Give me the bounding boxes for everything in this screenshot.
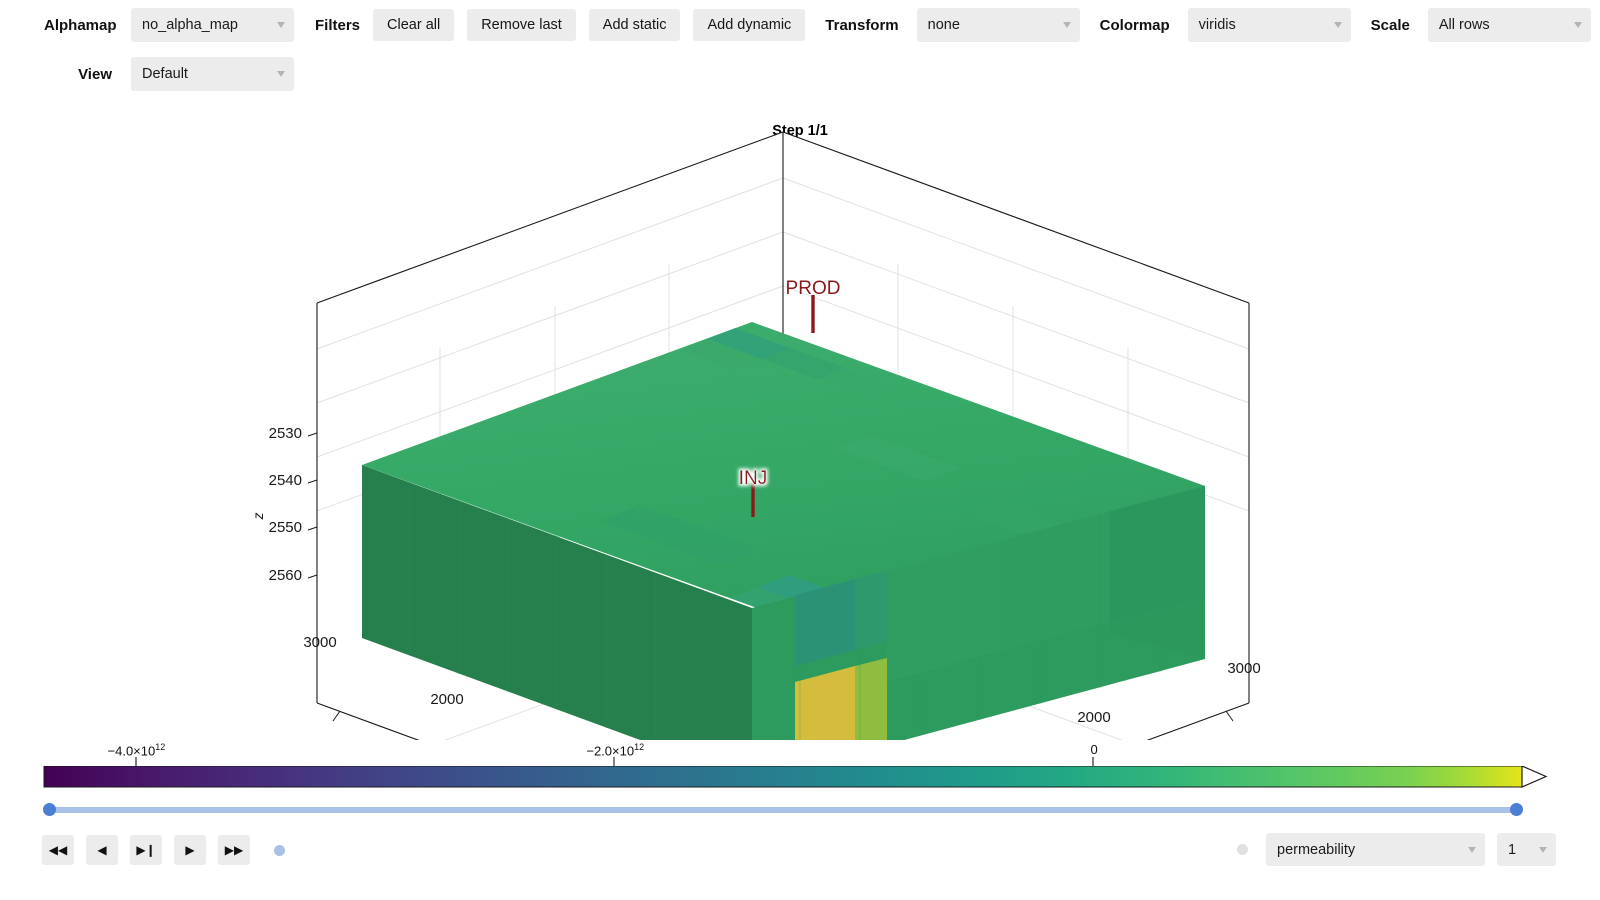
transform-select-value: none xyxy=(928,17,960,33)
add-static-button[interactable]: Add static xyxy=(589,9,681,41)
skip-to-end-button[interactable]: ▶▶ xyxy=(218,835,250,865)
view-label: View xyxy=(44,66,112,83)
chevron-down-icon xyxy=(1334,22,1342,28)
colorbar-gradient[interactable] xyxy=(0,766,1600,796)
y-tick-label: 3000 xyxy=(303,634,336,651)
transform-select[interactable]: none xyxy=(917,8,1080,42)
z-tick-label: 2550 xyxy=(269,519,302,536)
property-select[interactable]: permeability xyxy=(1266,833,1485,866)
colorbar-tick-marks xyxy=(0,755,1600,767)
playback-controls: ◀◀◀▶❙▶▶▶ xyxy=(42,835,285,865)
alphamap-label: Alphamap xyxy=(44,17,112,34)
toolbar-row-primary: Alphamap no_alpha_map Filters Clear all … xyxy=(0,0,1600,50)
range-slider-track[interactable] xyxy=(44,807,1522,813)
x-tick-label: 2000 xyxy=(1077,709,1110,726)
clear-all-button[interactable]: Clear all xyxy=(373,9,454,41)
chevron-down-icon xyxy=(1468,847,1476,853)
view-select-value: Default xyxy=(142,66,188,82)
skip-to-start-button[interactable]: ◀◀ xyxy=(42,835,74,865)
colormap-select[interactable]: viridis xyxy=(1188,8,1351,42)
property-controls: permeability 1 xyxy=(1237,833,1556,866)
chevron-down-icon xyxy=(277,22,285,28)
colormap-label: Colormap xyxy=(1100,17,1170,34)
colormap-select-value: viridis xyxy=(1199,17,1236,33)
y-tick-label: 2000 xyxy=(430,691,463,708)
chevron-down-icon xyxy=(1539,847,1547,853)
well-inj-label: INJ xyxy=(739,468,768,489)
index-select[interactable]: 1 xyxy=(1497,833,1556,866)
chevron-down-icon xyxy=(1574,22,1582,28)
z-tick-label: 2530 xyxy=(269,425,302,442)
scale-select-value: All rows xyxy=(1439,17,1490,33)
index-select-value: 1 xyxy=(1508,842,1516,858)
status-dot-icon xyxy=(1237,844,1248,855)
z-axis: 2530 2540 2550 2560 z xyxy=(250,425,317,584)
plot-canvas[interactable]: 2530 2540 2550 2560 z 3000 2000 1000 0 y xyxy=(0,105,1600,740)
z-axis-label: z xyxy=(250,513,266,521)
play-button[interactable]: ▶ xyxy=(174,835,206,865)
alphamap-select-value: no_alpha_map xyxy=(142,17,238,33)
playback-bar: ◀◀◀▶❙▶▶▶ permeability 1 xyxy=(0,830,1600,890)
property-select-value: permeability xyxy=(1277,842,1355,858)
playback-status-dot-icon xyxy=(274,845,285,856)
transform-label: Transform xyxy=(825,17,898,34)
x-tick-label: 3000 xyxy=(1227,660,1260,677)
colorbar-range-slider[interactable] xyxy=(44,803,1522,817)
toolbar-row-secondary: View Default xyxy=(0,50,1600,98)
z-tick-label: 2560 xyxy=(269,567,302,584)
remove-last-button[interactable]: Remove last xyxy=(467,9,576,41)
z-tick-label: 2540 xyxy=(269,472,302,489)
view-select[interactable]: Default xyxy=(131,57,294,91)
scale-select[interactable]: All rows xyxy=(1428,8,1591,42)
toolbar: Alphamap no_alpha_map Filters Clear all … xyxy=(0,0,1600,98)
plot-area[interactable]: Step 1/1 xyxy=(0,105,1600,740)
well-prod-label: PROD xyxy=(786,278,841,299)
chevron-down-icon xyxy=(277,71,285,77)
filters-label: Filters xyxy=(315,17,360,34)
reservoir-viewer-app: Alphamap no_alpha_map Filters Clear all … xyxy=(0,0,1600,900)
play-pause-button[interactable]: ▶❙ xyxy=(130,835,162,865)
scale-label: Scale xyxy=(1371,17,1410,34)
chevron-down-icon xyxy=(1063,22,1071,28)
step-backward-button[interactable]: ◀ xyxy=(86,835,118,865)
range-slider-handle-min[interactable] xyxy=(43,803,56,816)
alphamap-select[interactable]: no_alpha_map xyxy=(131,8,294,42)
add-dynamic-button[interactable]: Add dynamic xyxy=(693,9,805,41)
range-slider-handle-max[interactable] xyxy=(1510,803,1523,816)
colorbar[interactable]: −4.0×1012−2.0×10120 xyxy=(0,742,1600,794)
